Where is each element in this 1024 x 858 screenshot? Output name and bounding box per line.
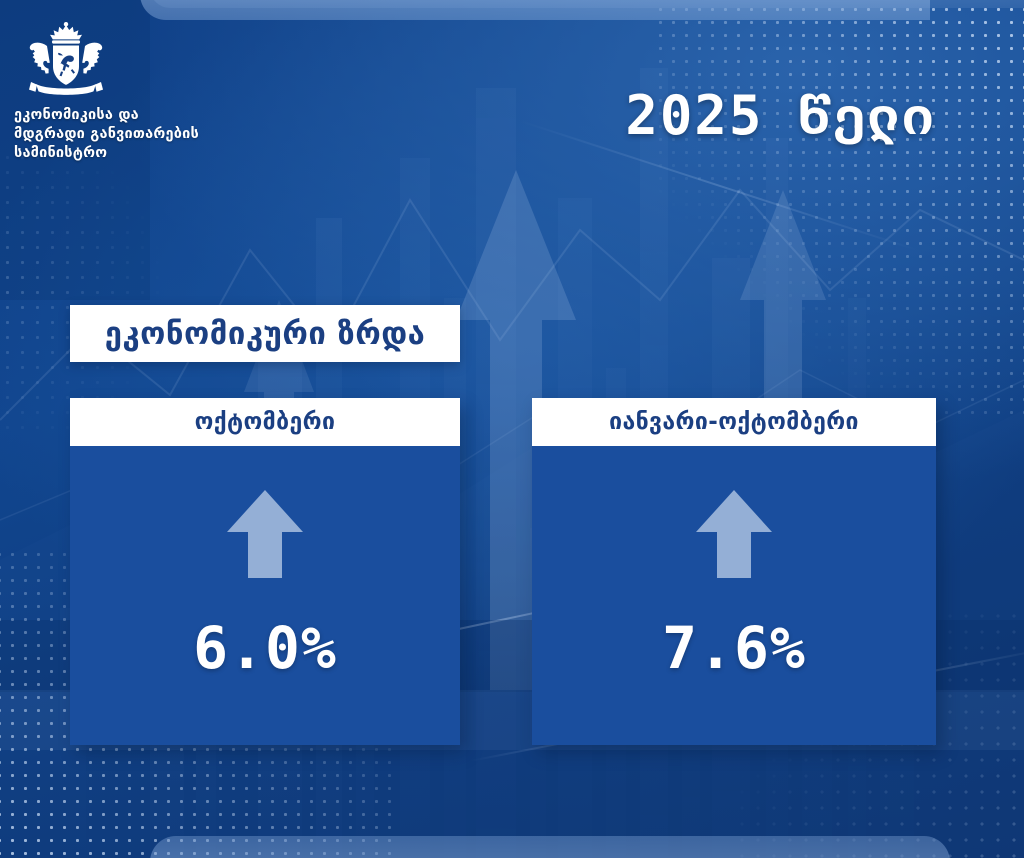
georgia-coat-of-arms-icon xyxy=(20,22,112,96)
dot-pattern-top-right xyxy=(654,0,1024,420)
ministry-logo: ეკონომიკისა და მდგრადი განვითარების სამი… xyxy=(14,22,224,163)
arrow-up-wrapper-january-october xyxy=(696,490,772,582)
dot-pattern-mid-left xyxy=(0,150,200,430)
background-bar xyxy=(476,88,516,858)
arrow-up-icon xyxy=(227,490,303,578)
arrow-up-wrapper-october xyxy=(227,490,303,582)
heading-label: ეკონომიკური ზრდა xyxy=(105,316,426,352)
ministry-name-label: ეკონომიკისა და მდგრადი განვითარების სამი… xyxy=(14,106,224,163)
card-body-october: 6.0% xyxy=(70,446,460,745)
card-label-october: ოქტომბერი xyxy=(195,409,336,435)
metric-card-january-october: იანვარი-ოქტომბერი 7.6% xyxy=(532,398,936,745)
accent-band-top xyxy=(140,0,930,20)
year-title: 2025 წელი xyxy=(625,84,936,147)
card-label-january-october: იანვარი-ოქტომბერი xyxy=(609,409,859,435)
card-header-january-october: იანვარი-ოქტომბერი xyxy=(532,398,936,446)
arrow-up-icon xyxy=(696,490,772,578)
heading-banner: ეკონომიკური ზრდა xyxy=(70,305,460,362)
card-body-january-october: 7.6% xyxy=(532,446,936,745)
metric-card-october: ოქტომბერი 6.0% xyxy=(70,398,460,745)
card-header-october: ოქტომბერი xyxy=(70,398,460,446)
card-value-october: 6.0% xyxy=(193,614,337,682)
card-value-january-october: 7.6% xyxy=(662,614,806,682)
accent-band-top-back xyxy=(150,0,1024,8)
infographic-poster: ეკონომიკისა და მდგრადი განვითარების სამი… xyxy=(0,0,1024,858)
accent-band-bottom xyxy=(150,836,950,858)
